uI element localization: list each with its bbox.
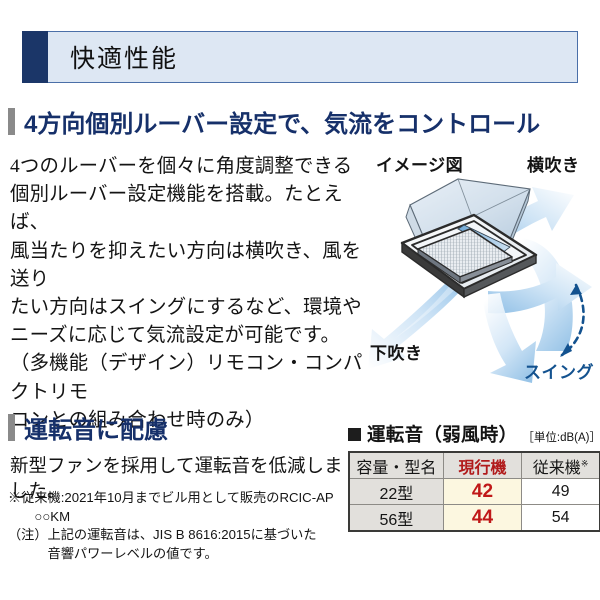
heading-louver: 4方向個別ルーバー設定で、気流をコントロール [8,104,540,139]
body-line: 風当たりを抑えたい方向は横吹き、風を送り [10,238,370,294]
label-swing: スイング [524,358,594,383]
footnotes: ※従来機:2021年10月までビル用として販売のRCIC-AP ○○KM （注）… [8,489,353,563]
table-header-row: 容量・型名 現行機 従来機※ [349,452,600,479]
header-previous-label: 従来機 [533,460,581,477]
heading-noise: 運転音に配慮 [8,410,168,445]
page-title: 快適性能 [48,39,178,75]
header-note-marker: ※ [581,458,589,468]
cell-model: 56型 [349,505,443,532]
cell-previous: 49 [522,479,600,505]
body-line: 4つのルーバーを個々に角度調整できる [10,153,370,181]
noise-table-title: 運転音（弱風時） [367,421,517,447]
cell-model: 22型 [349,479,443,505]
cell-current: 44 [443,505,521,532]
label-side-blow: 横吹き [527,151,580,176]
body-line: ニーズに応じて気流設定が可能です。 [10,322,370,350]
body-line: 個別ルーバー設定機能を搭載。たとえば、 [10,181,370,237]
table-header-model: 容量・型名 [349,452,443,479]
noise-table: 容量・型名 現行機 従来機※ 22型 42 49 56型 44 54 [348,451,600,532]
heading-louver-text: 4方向個別ルーバー設定で、気流をコントロール [24,104,540,139]
heading-bar-icon [8,414,15,441]
footnote-line: ○○KM [8,508,353,527]
table-row: 22型 42 49 [349,479,600,505]
noise-table-caption: 運転音（弱風時） ［単位:dB(A)］ [348,421,600,447]
cell-current: 42 [443,479,521,505]
brochure-page: 快適性能 4方向個別ルーバー設定で、気流をコントロール 4つのルーバーを個々に角… [0,0,600,600]
cell-previous: 54 [522,505,600,532]
table-row: 56型 44 54 [349,505,600,532]
louver-body-copy: 4つのルーバーを個々に角度調整できる 個別ルーバー設定機能を搭載。たとえば、 風… [10,153,370,435]
label-down-blow: 下吹き [370,339,423,364]
banner-accent-block [22,31,48,83]
airflow-illustration: イメージ図 横吹き 下吹き スイング [360,143,600,383]
body-line: （多機能（デザイン）リモコン・コンパクトリモ [10,350,370,406]
banner-panel: 快適性能 [48,31,578,83]
noise-table-unit: ［単位:dB(A)］ [522,429,600,445]
footnote-line: ※従来機:2021年10月までビル用として販売のRCIC-AP [8,489,353,508]
body-line: たい方向はスイングにするなど、環境や [10,294,370,322]
footnote-line: （注）上記の運転音は、JIS B 8616:2015に基づいた [8,526,353,545]
noise-table-block: 運転音（弱風時） ［単位:dB(A)］ 容量・型名 現行機 従来機※ 22型 4… [348,421,600,532]
square-bullet-icon [348,428,361,441]
table-header-current: 現行機 [443,452,521,479]
footnote-line: 音響パワーレベルの値です。 [8,545,353,564]
heading-bar-icon [8,108,15,135]
table-header-previous: 従来機※ [522,452,600,479]
illustration-caption: イメージ図 [376,151,463,176]
heading-noise-text: 運転音に配慮 [24,410,168,445]
section-banner: 快適性能 [22,31,578,83]
